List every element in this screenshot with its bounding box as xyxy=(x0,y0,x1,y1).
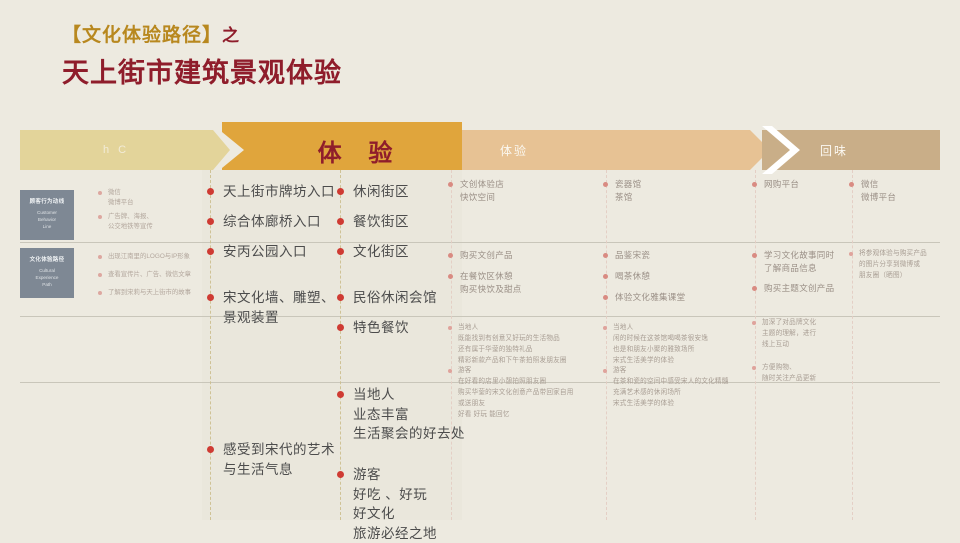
list-item[interactable]: 文创体验店 快饮空间 xyxy=(448,178,598,204)
list-item[interactable]: 出现江南里的LOGO与IP形象 xyxy=(98,252,218,262)
list-item-label: 品鉴宋瓷 xyxy=(615,249,650,262)
title-main: 天上街市建筑景观体验 xyxy=(62,57,342,91)
list-item[interactable]: 在餐饮区休憩 购买快饮及甜点 xyxy=(448,270,598,296)
list-item-label: 学习文化故事同时 了解商品信息 xyxy=(764,249,834,275)
bullet-dot-icon xyxy=(98,291,102,295)
page-title: 【文化体验路径】之 天上街市建筑景观体验 xyxy=(62,24,342,90)
list-item-label: 方便购物、 随时关注产品更新 xyxy=(762,363,816,385)
list-item[interactable]: 当地人 既能找到有创意又好玩的生活物品 还有属于华蓥的独特礼品 精彩新款产品和下… xyxy=(448,323,603,367)
list-item-label: 当地人 既能找到有创意又好玩的生活物品 还有属于华蓥的独特礼品 精彩新款产品和下… xyxy=(458,323,567,367)
list-item[interactable]: 天上街市牌坊入口 xyxy=(207,182,335,202)
title-bracket-text: 【文化体验路径】 xyxy=(62,25,222,46)
bullet-dot-icon xyxy=(448,326,452,330)
bullet-dot-icon xyxy=(337,391,344,398)
bullet-dot-icon xyxy=(752,321,756,325)
bullet-dot-icon xyxy=(207,294,214,301)
row-divider-2 xyxy=(20,316,940,317)
title-zhi: 之 xyxy=(222,26,240,45)
bullet-dot-icon xyxy=(752,253,757,258)
list-item[interactable]: 喝茶休憩 xyxy=(603,270,748,283)
bullet-dot-icon xyxy=(752,182,757,187)
stage-label-awareness: h C xyxy=(20,144,230,156)
list-item-label: 广告牌、海报、 公交地铁等宣传 xyxy=(108,212,153,233)
list-item-label: 网购平台 xyxy=(764,178,799,191)
list-item-label: 文创体验店 快饮空间 xyxy=(460,178,504,204)
bullet-dot-icon xyxy=(207,218,214,225)
bullet-dot-icon xyxy=(337,248,344,255)
list-item[interactable]: 宋文化墙、雕塑、 景观装置 xyxy=(207,288,335,327)
list-item[interactable]: 餐饮街区 xyxy=(337,212,409,232)
sidebar-item-cultural-experience-path[interactable]: 文化体验路径 Cultural Experience Path xyxy=(20,248,74,298)
list-item-label: 加深了对品牌文化 主题的理解，进行 线上互动 xyxy=(762,318,816,351)
list-item[interactable]: 广告牌、海报、 公交地铁等宣传 xyxy=(98,212,208,233)
list-item[interactable]: 当地人 业态丰富 生活聚会的好去处 xyxy=(337,385,465,444)
list-item[interactable]: 感受到宋代的艺术 与生活气息 xyxy=(207,440,335,479)
sidebar-item-customer-behavior-line[interactable]: 顾客行为动线 Customer Behavior Line xyxy=(20,190,74,240)
list-item-label: 游客 在好看的店里小憩拍照朋友圈 购买华蓥的宋文化创意产品带回家自用 或送朋友 … xyxy=(458,366,574,420)
list-item-label: 餐饮街区 xyxy=(353,212,409,232)
bullet-dot-icon xyxy=(752,286,757,291)
bullet-dot-icon xyxy=(448,369,452,373)
bullet-dot-icon xyxy=(752,366,756,370)
sidebar-label-cn-1: 文化体验路径 xyxy=(30,257,65,265)
list-item-label: 当地人 闲的时候在这茶馆喝喝茶很安逸 也是和朋友小聚的雅致场所 宋式生活美学的体… xyxy=(613,323,708,367)
bullet-dot-icon xyxy=(337,218,344,225)
bullet-dot-icon xyxy=(207,248,214,255)
list-item[interactable]: 网购平台 xyxy=(752,178,847,191)
bullet-dot-icon xyxy=(603,295,608,300)
list-item-label: 在餐饮区休憩 购买快饮及甜点 xyxy=(460,270,522,296)
list-item[interactable]: 民俗休闲会馆 xyxy=(337,288,437,308)
bullet-dot-icon xyxy=(98,191,102,195)
sidebar-label-en-1: Cultural Experience Path xyxy=(36,268,59,289)
list-item[interactable]: 将参观体验与购买产品 的图片分享到微博或 朋友圈（晒图） xyxy=(849,249,949,282)
list-item-label: 休闲街区 xyxy=(353,182,409,202)
stage-label-experience-2: 体验 xyxy=(460,142,770,159)
list-item-label: 宋文化墙、雕塑、 景观装置 xyxy=(223,288,335,327)
bullet-dot-icon xyxy=(337,188,344,195)
list-item-label: 感受到宋代的艺术 与生活气息 xyxy=(223,440,335,479)
list-item-label: 微信 微博平台 xyxy=(861,178,896,204)
stage-segment-experience-2[interactable]: 体验 xyxy=(460,130,770,170)
list-item[interactable]: 查看宣传片、广告、微信文章 xyxy=(98,270,218,280)
list-item-label: 游客 好吃 、好玩 好文化 旅游必经之地 xyxy=(353,465,437,543)
list-item[interactable]: 游客 在好看的店里小憩拍照朋友圈 购买华蓥的宋文化创意产品带回家自用 或送朋友 … xyxy=(448,366,603,420)
bullet-dot-icon xyxy=(448,253,453,258)
bullet-dot-icon xyxy=(448,274,453,279)
list-item[interactable]: 游客 在茶和瓷的空间中感受宋人的文化精髓 充满艺术感的休闲场所 宋式生活美学的体… xyxy=(603,366,758,410)
bullet-dot-icon xyxy=(603,182,608,187)
list-item[interactable]: 购买文创产品 xyxy=(448,249,598,262)
list-item-label: 瓷器馆 茶馆 xyxy=(615,178,641,204)
bullet-dot-icon xyxy=(337,324,344,331)
list-item[interactable]: 了解到宋莉与天上街市的故事 xyxy=(98,288,223,298)
bullet-dot-icon xyxy=(849,182,854,187)
list-item-label: 购买主题文创产品 xyxy=(764,282,834,295)
list-item-label: 购买文创产品 xyxy=(460,249,513,262)
stage-band: h C 体验 回味 体 验 xyxy=(20,130,940,170)
title-superline: 【文化体验路径】之 xyxy=(62,24,342,49)
bullet-dot-icon xyxy=(98,255,102,259)
list-item-label: 安丙公园入口 xyxy=(223,242,307,262)
list-item[interactable]: 休闲街区 xyxy=(337,182,409,202)
bullet-dot-icon xyxy=(207,446,214,453)
list-item[interactable]: 微信 微博平台 xyxy=(849,178,944,204)
sidebar-label-cn-0: 顾客行为动线 xyxy=(30,199,65,207)
list-item[interactable]: 加深了对品牌文化 主题的理解，进行 线上互动 xyxy=(752,318,847,351)
list-item[interactable]: 综合体廊桥入口 xyxy=(207,212,321,232)
journey-grid: 顾客行为动线 Customer Behavior Line 文化体验路径 Cul… xyxy=(20,170,940,520)
bullet-dot-icon xyxy=(603,274,608,279)
list-item-label: 微信 微博平台 xyxy=(108,188,134,209)
bullet-dot-icon xyxy=(337,294,344,301)
list-item-label: 体验文化雅集课堂 xyxy=(615,291,685,304)
list-item-label: 将参观体验与购买产品 的图片分享到微博或 朋友圈（晒图） xyxy=(859,249,927,282)
list-item[interactable]: 方便购物、 随时关注产品更新 xyxy=(752,363,847,385)
list-item-label: 查看宣传片、广告、微信文章 xyxy=(108,270,191,280)
bullet-dot-icon xyxy=(603,253,608,258)
list-item[interactable]: 特色餐饮 xyxy=(337,318,409,338)
row-divider-1 xyxy=(20,242,940,243)
bullet-dot-icon xyxy=(448,182,453,187)
guide-line-c6 xyxy=(852,170,853,520)
stage-label-experience-main: 体 验 xyxy=(222,133,462,168)
list-item[interactable]: 游客 好吃 、好玩 好文化 旅游必经之地 xyxy=(337,465,437,543)
list-item-label: 综合体廊桥入口 xyxy=(223,212,321,232)
list-item-label: 民俗休闲会馆 xyxy=(353,288,437,308)
list-item[interactable]: 品鉴宋瓷 xyxy=(603,249,748,262)
list-item[interactable]: 文化街区 xyxy=(337,242,409,262)
list-item[interactable]: 体验文化雅集课堂 xyxy=(603,291,748,304)
list-item-label: 游客 在茶和瓷的空间中感受宋人的文化精髓 充满艺术感的休闲场所 宋式生活美学的体… xyxy=(613,366,729,410)
list-item-label: 出现江南里的LOGO与IP形象 xyxy=(108,252,190,262)
list-item[interactable]: 微信 微博平台 xyxy=(98,188,198,209)
list-item-label: 喝茶休憩 xyxy=(615,270,650,283)
list-item-label: 文化街区 xyxy=(353,242,409,262)
stage-segment-awareness[interactable]: h C xyxy=(20,130,230,170)
bullet-dot-icon xyxy=(98,273,102,277)
list-item[interactable]: 购买主题文创产品 xyxy=(752,282,847,295)
list-item[interactable]: 当地人 闲的时候在这茶馆喝喝茶很安逸 也是和朋友小聚的雅致场所 宋式生活美学的体… xyxy=(603,323,758,367)
list-item-label: 天上街市牌坊入口 xyxy=(223,182,335,202)
list-item[interactable]: 学习文化故事同时 了解商品信息 xyxy=(752,249,847,275)
bullet-dot-icon xyxy=(849,252,853,256)
bullet-dot-icon xyxy=(207,188,214,195)
list-item-label: 特色餐饮 xyxy=(353,318,409,338)
list-item[interactable]: 瓷器馆 茶馆 xyxy=(603,178,748,204)
bullet-dot-icon xyxy=(603,326,607,330)
list-item-label: 了解到宋莉与天上街市的故事 xyxy=(108,288,191,298)
bullet-dot-icon xyxy=(98,215,102,219)
sidebar-label-en-0: Customer Behavior Line xyxy=(37,210,57,231)
bullet-dot-icon xyxy=(603,369,607,373)
list-item[interactable]: 安丙公园入口 xyxy=(207,242,307,262)
bullet-dot-icon xyxy=(337,471,344,478)
